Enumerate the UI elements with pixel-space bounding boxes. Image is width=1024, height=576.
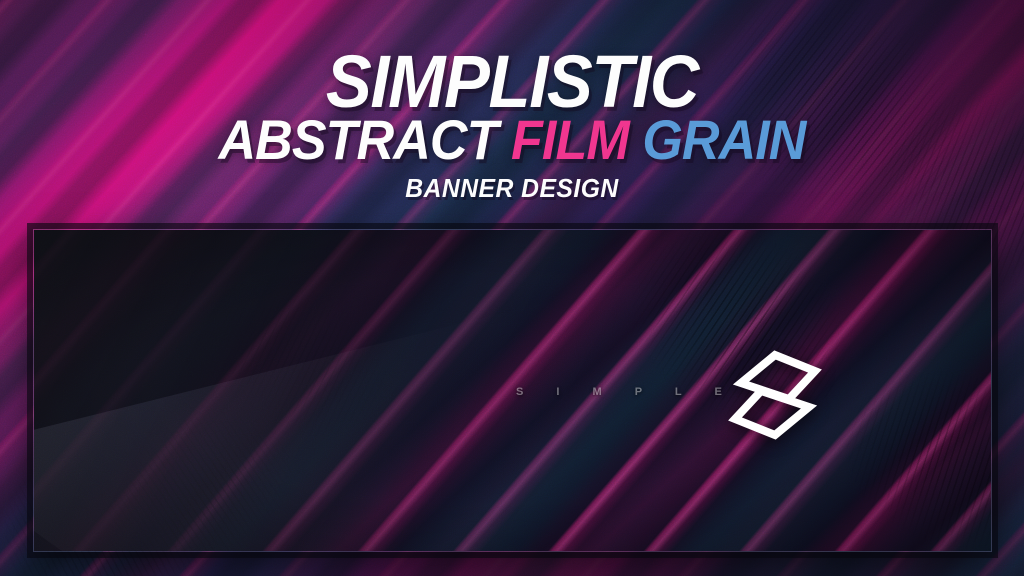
thumbnail-canvas: SIMPLISTIC ABSTRACT FILM GRAIN BANNER DE… xyxy=(0,0,1024,576)
headline-block: SIMPLISTIC ABSTRACT FILM GRAIN BANNER DE… xyxy=(0,52,1024,204)
banner-vignette xyxy=(34,230,991,551)
interlocking-diamonds-logo-icon xyxy=(727,349,823,441)
headline-word-abstract: ABSTRACT xyxy=(218,108,497,171)
headline-subtitle: BANNER DESIGN xyxy=(26,173,999,204)
headline-word-film: FILM xyxy=(511,108,629,171)
banner-preview-frame xyxy=(33,229,992,552)
banner-wordmark: S I M P L E xyxy=(516,386,737,398)
banner-preview-artwork xyxy=(34,230,991,551)
headline-line-1: SIMPLISTIC xyxy=(36,52,988,113)
headline-line-2: ABSTRACT FILM GRAIN xyxy=(36,115,988,165)
headline-word-grain: GRAIN xyxy=(642,108,805,171)
